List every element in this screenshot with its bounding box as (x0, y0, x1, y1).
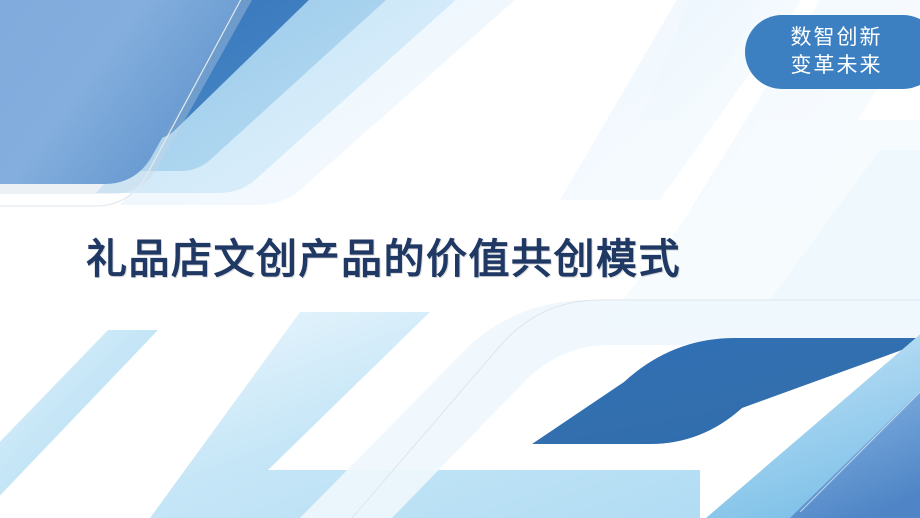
bottom-right-dark-ribbon (532, 338, 920, 446)
badge-line-1: 数智创新 (791, 24, 883, 52)
title-container: 礼品店文创产品的价值共创模式 (86, 232, 726, 288)
top-left-blue-panel (0, 0, 271, 194)
sweep-hairline (352, 300, 920, 518)
corner-badge: 数智创新 变革未来 (745, 15, 920, 89)
slide-canvas: 数智创新 变革未来 礼品店文创产品的价值共创模式 (0, 0, 920, 518)
page-title: 礼品店文创产品的价值共创模式 (86, 237, 681, 282)
badge-line-2: 变革未来 (791, 52, 883, 80)
lower-sweep-band (300, 300, 920, 518)
badge-halo (640, 0, 760, 120)
wedge-highlight (800, 352, 920, 512)
bottom-right-blue-wedge (706, 300, 920, 518)
panel-echo-line (0, 0, 246, 206)
top-diagonal-bands (50, 0, 560, 205)
bottom-left-diagonal-stripes (0, 312, 700, 518)
